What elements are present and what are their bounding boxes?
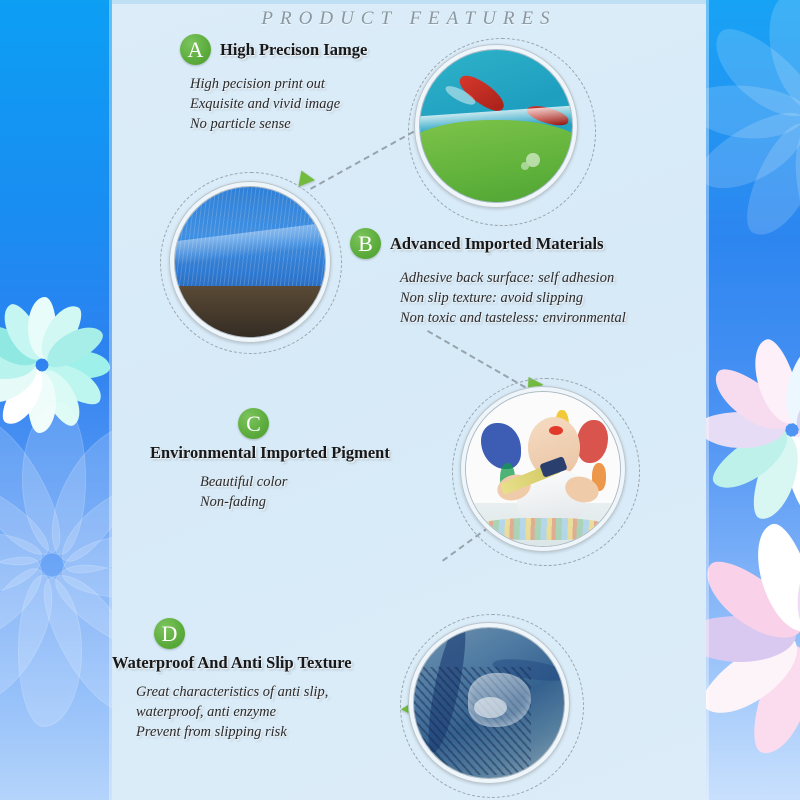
feature-bullet: Prevent from slipping risk — [136, 722, 352, 742]
photo-ring-d — [408, 622, 570, 784]
feature-bullet: High pecision print out — [190, 74, 367, 94]
feature-badge-a: A — [180, 34, 211, 65]
feature-bullet: Non slip texture: avoid slipping — [400, 288, 626, 308]
feature-heading-d: Waterproof And Anti Slip Texture — [112, 653, 352, 673]
feature-block-d: D Waterproof And Anti Slip Texture Great… — [112, 618, 352, 742]
feature-photo-a — [408, 38, 594, 224]
photo-image-d — [414, 628, 564, 778]
content-panel: PRODUCT FEATURES — [112, 0, 706, 800]
feature-heading-a: High Precison Iamge — [220, 40, 367, 60]
feature-photo-c — [452, 378, 638, 564]
photo-image-c — [466, 392, 620, 546]
feature-badge-row-d: D — [154, 618, 352, 649]
page-title: PRODUCT FEATURES — [112, 8, 706, 30]
photo-ring-a — [414, 44, 578, 208]
feature-block-b: B Advanced Imported Materials Adhesive b… — [350, 228, 626, 328]
feature-bullets-d: Great characteristics of anti slip, wate… — [136, 682, 352, 742]
feature-bullet: Exquisite and vivid image — [190, 94, 367, 114]
feature-bullets-c: Beautiful color Non-fading — [200, 472, 390, 512]
feature-bullet: Beautiful color — [200, 472, 390, 492]
feature-photo-b — [160, 172, 340, 352]
feature-bullet: Non toxic and tasteless: environmental — [400, 308, 626, 328]
feature-bullet: Non-fading — [200, 492, 390, 512]
feature-bullet: Great characteristics of anti slip, — [136, 682, 352, 702]
feature-photo-d — [400, 614, 582, 796]
feature-bullet: Adhesive back surface: self adhesion — [400, 268, 626, 288]
feature-bullet: waterproof, anti enzyme — [136, 702, 352, 722]
feature-badge-d: D — [154, 618, 185, 649]
photo-image-a — [420, 50, 572, 202]
photo-ring-c — [460, 386, 626, 552]
feature-badge-b: B — [350, 228, 381, 259]
feature-heading-c: Environmental Imported Pigment — [150, 443, 390, 463]
photo-image-b — [175, 187, 325, 337]
feature-block-c: C Environmental Imported Pigment Beautif… — [150, 408, 390, 512]
left-decorative-strip — [0, 0, 112, 800]
feature-block-a: A High Precison Iamge High pecision prin… — [180, 34, 367, 134]
photo-ring-b — [169, 181, 331, 343]
right-decorative-strip — [706, 0, 800, 800]
feature-heading-b: Advanced Imported Materials — [390, 234, 604, 254]
top-hairline — [112, 0, 706, 4]
right-strip-edge — [706, 0, 709, 800]
feature-bullets-a: High pecision print out Exquisite and vi… — [190, 74, 367, 134]
feature-bullet: No particle sense — [190, 114, 367, 134]
feature-heading-row-a: A High Precison Iamge — [180, 34, 367, 65]
feature-badge-row-c: C — [238, 408, 390, 439]
feature-heading-row-b: B Advanced Imported Materials — [350, 228, 626, 259]
feature-badge-c: C — [238, 408, 269, 439]
feature-bullets-b: Adhesive back surface: self adhesion Non… — [400, 268, 626, 328]
product-features-poster: PRODUCT FEATURES — [0, 0, 800, 800]
